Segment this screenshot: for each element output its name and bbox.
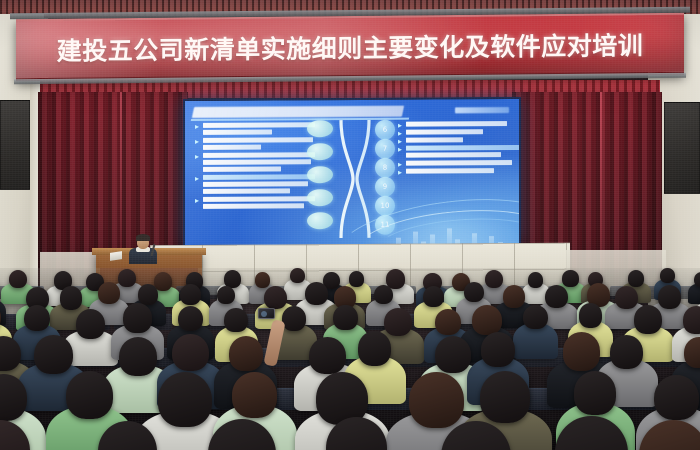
graphic-ellipse	[307, 120, 333, 137]
graphic-circle-number: 6	[375, 120, 395, 140]
bullet-text-line	[203, 159, 311, 164]
audience-person-head	[374, 285, 393, 304]
audience-person-head	[658, 285, 681, 309]
slide-right-bullet-item	[398, 121, 516, 126]
bullet-text-line	[406, 160, 512, 165]
audience-person-head	[34, 335, 72, 374]
audience-person-head	[232, 372, 277, 418]
slide-right-bullet-item	[398, 160, 516, 165]
slide-title-bar	[192, 106, 404, 118]
bullet-text-line	[203, 196, 315, 201]
bullet-arrow-icon	[398, 147, 402, 151]
audience-person-head	[435, 309, 461, 335]
slide-left-bullet-item	[195, 152, 315, 171]
bullet-arrow-icon	[195, 124, 199, 128]
audience-person-head	[472, 305, 502, 335]
graphic-ellipse	[307, 143, 333, 160]
audience-person-head	[224, 270, 241, 288]
audience-person-head	[423, 286, 444, 307]
banner-title: 建投五公司新清单实施细则主要变化及软件应对培训	[16, 25, 684, 67]
audience-person-head	[579, 303, 603, 327]
audience-person-head	[282, 306, 306, 331]
audience-person-head	[574, 371, 617, 415]
bullet-text-line	[203, 129, 272, 134]
bullet-text-line	[406, 152, 501, 157]
banner: 建投五公司新清单实施细则主要变化及软件应对培训	[16, 13, 684, 81]
audience-person-head	[172, 334, 209, 372]
bullet-text-line	[406, 121, 507, 126]
slide-decoration	[325, 187, 521, 247]
audience-person-head	[628, 270, 644, 287]
audience-person-head	[610, 335, 643, 369]
audience-person-head	[158, 372, 212, 427]
bullet-arrow-icon	[398, 162, 402, 166]
audience-person-head	[290, 268, 305, 283]
audience-person-head	[98, 282, 120, 304]
audience-person-head	[118, 269, 136, 287]
audience-person-head	[138, 284, 158, 304]
bullet-text-line	[406, 145, 521, 150]
audience-person-head	[563, 332, 600, 370]
projection-screen: 67891011	[183, 97, 521, 247]
bullet-arrow-icon	[195, 198, 199, 202]
bullet-text-line	[406, 168, 494, 173]
audience-person-head	[654, 375, 699, 420]
slide-right-bullet-item	[398, 145, 516, 157]
audience-person-head	[305, 282, 328, 305]
slide-right-bullet-item	[398, 137, 516, 142]
bullet-text-line	[203, 181, 308, 186]
bullet-text-line	[203, 145, 261, 150]
audience-area	[0, 268, 700, 450]
audience-person-head	[123, 303, 152, 332]
bullet-arrow-icon	[398, 131, 402, 135]
phone-camera	[258, 308, 275, 319]
bullet-text-line	[203, 152, 315, 157]
audience-person-head	[264, 286, 287, 309]
audience-person-head	[229, 336, 263, 371]
lectern-laptop	[110, 251, 122, 261]
slide-left-bullet-item	[195, 137, 315, 149]
audience-person-head	[224, 308, 247, 332]
graphic-ellipse	[307, 166, 333, 183]
slide-left-bullet-column	[195, 122, 315, 212]
audience-person-head	[694, 272, 700, 287]
graphic-numbered-circle: 6	[375, 120, 395, 140]
audience-person-head	[358, 331, 392, 365]
audience-person-head	[255, 272, 270, 287]
audience-person-head	[384, 308, 412, 336]
audience-person-head	[349, 271, 364, 287]
graphic-circle-number: 7	[375, 139, 395, 159]
audience-person-head	[528, 272, 543, 288]
bullet-text-line	[406, 129, 483, 134]
bullet-text-line	[406, 137, 463, 142]
speaker-hair	[136, 234, 150, 241]
audience-person-head	[683, 306, 700, 333]
audience-person-head	[480, 371, 531, 423]
wall-panel-right	[664, 102, 700, 194]
presentation-slide: 67891011	[185, 99, 519, 245]
slide-right-bullet-item	[398, 129, 516, 134]
audience-person-head	[333, 305, 357, 330]
audience-person-head	[309, 337, 345, 374]
bullet-arrow-icon	[195, 176, 199, 180]
audience-person-head	[562, 270, 578, 287]
wall-panel-left	[0, 100, 30, 190]
audience-person-head	[66, 371, 113, 419]
audience-person-head	[435, 336, 472, 373]
bullet-text-line	[203, 137, 313, 142]
slide-right-bullet-column	[398, 121, 516, 177]
bullet-text-line	[203, 166, 281, 171]
audience-person-head	[60, 286, 83, 309]
slide-logo-watermark	[455, 107, 509, 113]
bullet-arrow-icon	[398, 123, 402, 127]
bullet-arrow-icon	[398, 170, 402, 174]
slide-left-bullet-item	[195, 196, 315, 208]
bullet-text-line	[203, 122, 315, 127]
bullet-text-line	[203, 174, 315, 179]
slide-left-bullet-item	[195, 122, 315, 134]
audience-person-head	[485, 270, 503, 289]
audience-person-head	[464, 282, 484, 302]
audience-person-head	[660, 268, 675, 283]
slide-left-bullet-item	[195, 174, 315, 193]
audience-person-head	[503, 285, 525, 308]
slide-right-bullet-item	[398, 168, 516, 173]
audience-person-head	[76, 309, 106, 339]
audience-person-head	[523, 305, 547, 330]
graphic-circle-number: 8	[375, 158, 395, 178]
bullet-arrow-icon	[195, 139, 199, 143]
photo-scene: 67891011 建投五公司新清单实施细则主要变化及软件	[0, 0, 700, 450]
audience-person-head	[481, 332, 515, 367]
audience-person-head	[178, 306, 203, 332]
graphic-numbered-circle: 7	[375, 139, 395, 159]
audience-person-head	[409, 372, 464, 428]
audience-person-head	[615, 286, 638, 309]
audience-person-head	[217, 286, 235, 304]
audience-person-head	[180, 284, 201, 305]
bullet-arrow-icon	[398, 139, 402, 143]
audience-person-head	[24, 305, 50, 332]
bullet-text-line	[203, 203, 304, 208]
audience-person-head	[119, 337, 157, 376]
audience-person-head	[9, 270, 27, 288]
bullet-arrow-icon	[195, 154, 199, 158]
graphic-numbered-circle: 8	[375, 158, 395, 178]
bullet-text-line	[203, 188, 290, 193]
audience-person-head	[634, 305, 662, 334]
audience-person-head	[545, 285, 568, 308]
